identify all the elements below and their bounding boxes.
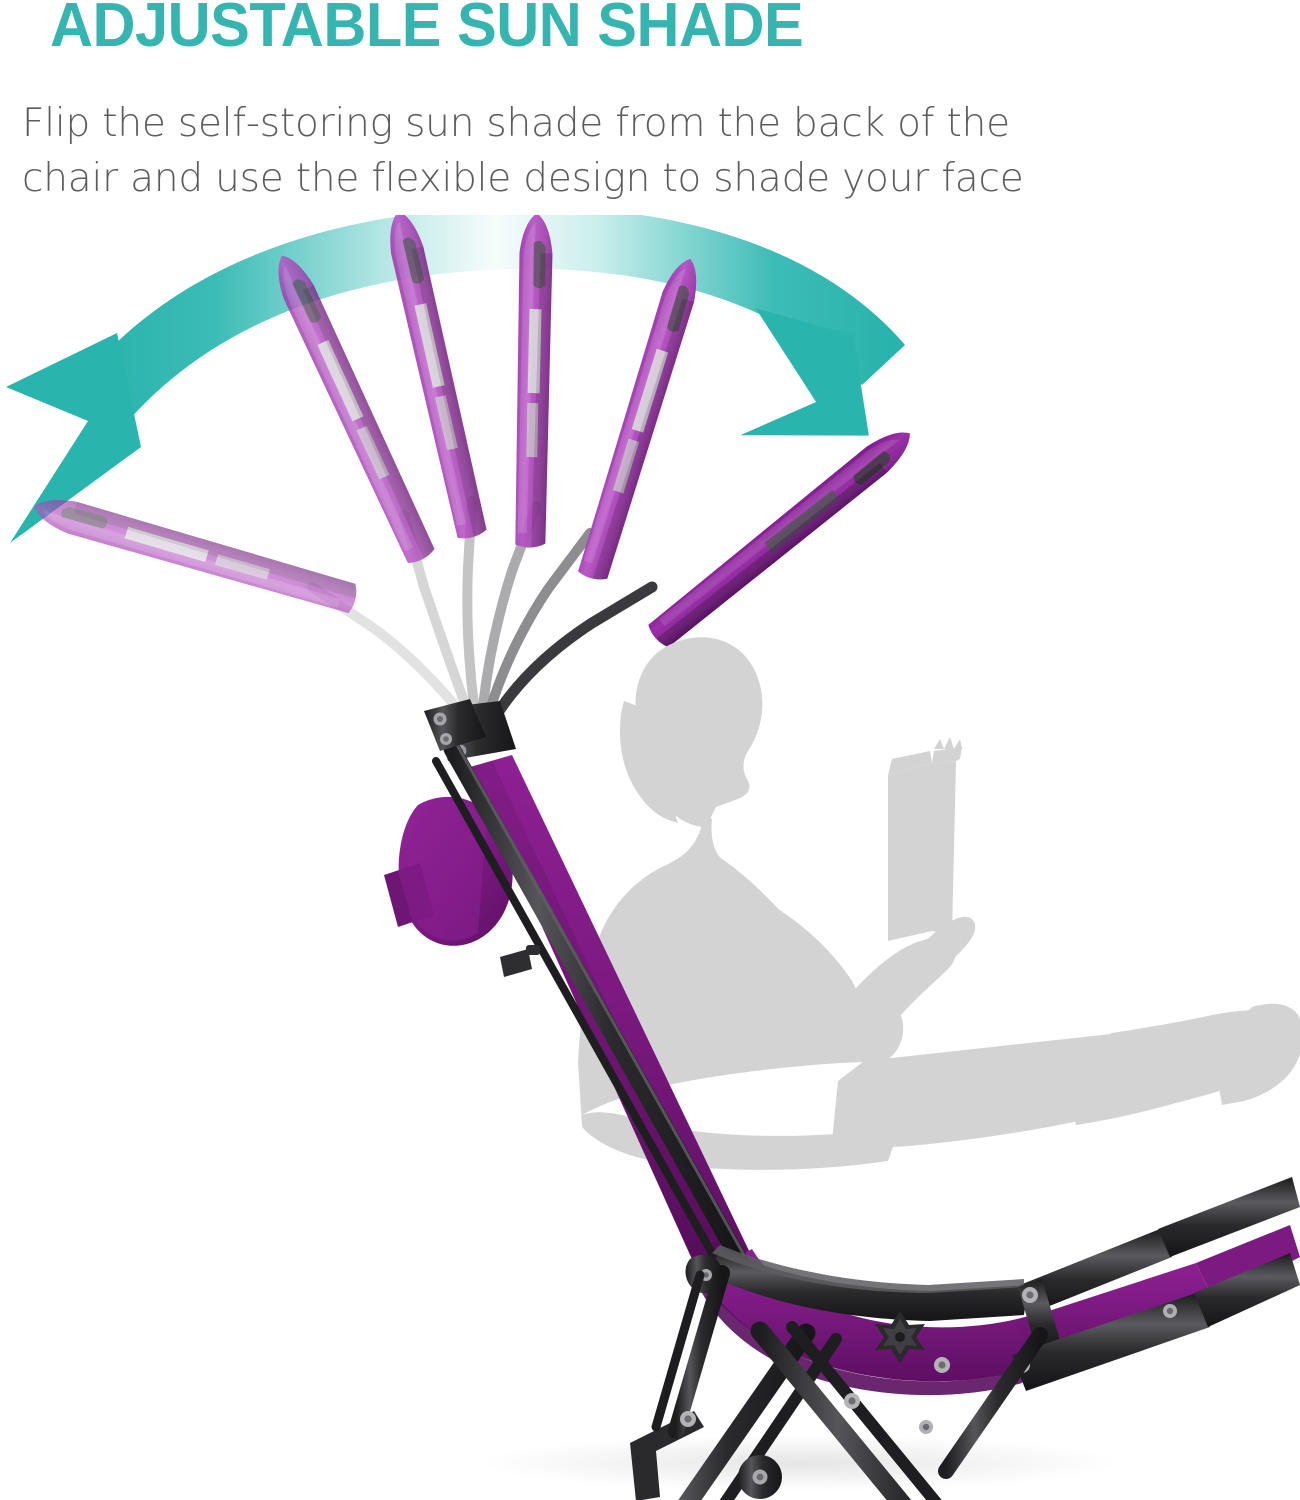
canopy-position-6: [643, 421, 923, 650]
page-subtitle: Flip the self-storing sun shade from the…: [22, 96, 1272, 206]
product-illustration: [0, 215, 1300, 1500]
canopy-position-5: [572, 254, 710, 583]
page-title: ADJUSTABLE SUN SHADE: [50, 0, 803, 64]
page-subtitle-line-1: Flip the self-storing sun shade from the…: [22, 96, 1272, 151]
product-feature-card: ADJUSTABLE SUN SHADE Flip the self-stori…: [0, 0, 1300, 1500]
canopy-position-1: [29, 487, 359, 619]
rear-frame: [656, 1273, 722, 1431]
leg-hinge-puck: [738, 1455, 782, 1499]
seated-person-silhouette: [578, 637, 1300, 1170]
page-subtitle-line-2: chair and use the flexible design to sha…: [22, 151, 1272, 206]
